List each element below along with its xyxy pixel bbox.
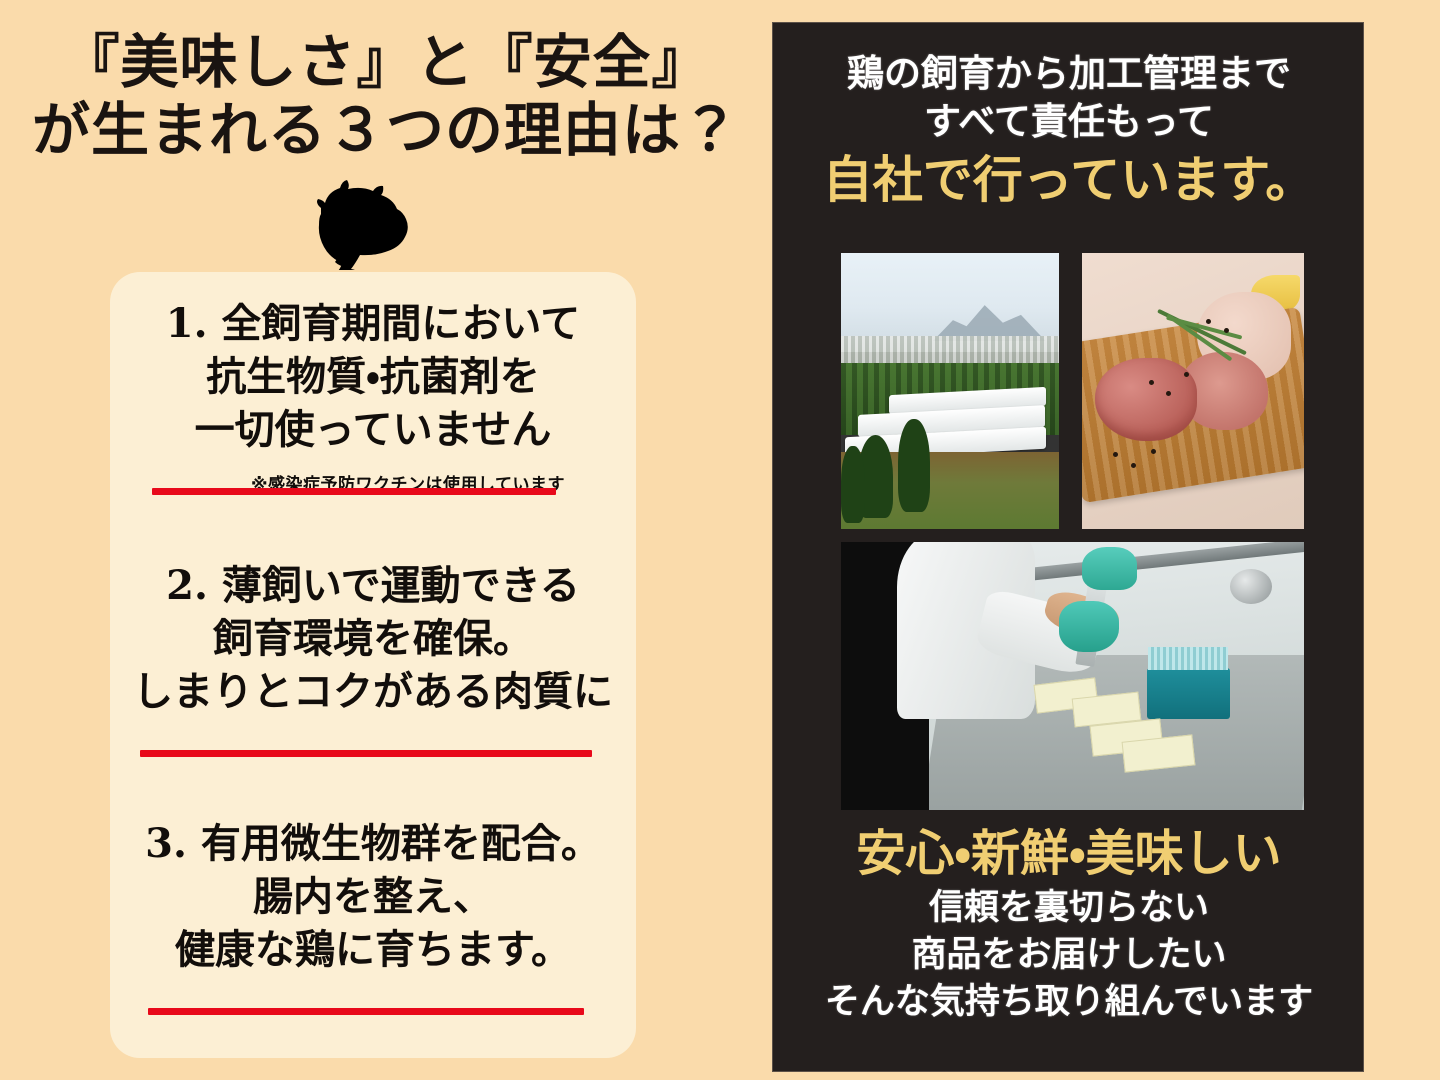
reason-1-line-3: 一切使っていません [110,404,636,457]
panel-header-line-1: 鶏の飼育から加工管理まで [773,49,1364,97]
reason-3-line-2: 腸内を整え、 [110,871,636,924]
footer-line-2: 商品をお届けしたい [773,932,1364,979]
reason-item-3: 3. 有用微生物群を配合。 腸内を整え、 健康な鶏に育ちます。 [110,818,636,976]
chicken-silhouette-icon [303,178,433,270]
panel-header-line-2: すべて責任もって [773,97,1364,145]
reason-item-2: 2. 薄飼いで運動できる 飼育環境を確保。 しまりとコクがある肉質に [110,560,636,718]
reason-2-line-3: しまりとコクがある肉質に [110,666,636,719]
page-headline: 『美味しさ』と『安全』 が生まれる３つの理由は？ [0,28,772,165]
left-column: 『美味しさ』と『安全』 が生まれる３つの理由は？ 1. 全飼育期間において 抗生… [0,0,772,1080]
headline-line-1: 『美味しさ』と『安全』 [0,28,772,96]
reason-3-red-underline [148,1008,584,1015]
panel-header: 鶏の飼育から加工管理まで すべて責任もって 自社で行っています。 [773,49,1364,210]
reason-3-line-1: 3. 有用微生物群を配合。 [110,818,636,871]
reason-1-line-1: 1. 全飼育期間において [110,298,636,351]
footer-line-3: そんな気持ち取り組んでいます [773,979,1364,1026]
panel-footer: 安心・新鮮・美味しい 信頼を裏切らない 商品をお届けしたい そんな気持ち取り組ん… [773,823,1364,1025]
reason-2-line-1: 2. 薄飼いで運動できる [110,560,636,613]
panel-header-highlight: 自社で行っています。 [773,149,1364,210]
reason-item-1: 1. 全飼育期間において 抗生物質・抗菌剤を 一切使っていません ※感染症予防ワ… [110,298,636,495]
reason-2-line-2: 飼育環境を確保。 [110,613,636,666]
footer-highlight: 安心・新鮮・美味しい [773,823,1364,885]
reason-1-line-2: 抗生物質・抗菌剤を [110,351,636,404]
raw-chicken-on-cutting-board-photo [1082,253,1304,529]
reason-3-line-3: 健康な鶏に育ちます。 [110,924,636,977]
reason-2-red-underline [140,750,592,757]
laboratory-inspection-photo [841,542,1304,810]
company-process-panel: 鶏の飼育から加工管理まで すべて責任もって 自社で行っています。 [772,22,1364,1072]
reasons-card: 1. 全飼育期間において 抗生物質・抗菌剤を 一切使っていません ※感染症予防ワ… [110,272,636,1058]
poultry-farm-aerial-photo [841,253,1059,529]
headline-line-2: が生まれる３つの理由は？ [0,96,772,164]
reason-1-red-underline [152,488,556,495]
footer-line-1: 信頼を裏切らない [773,885,1364,932]
